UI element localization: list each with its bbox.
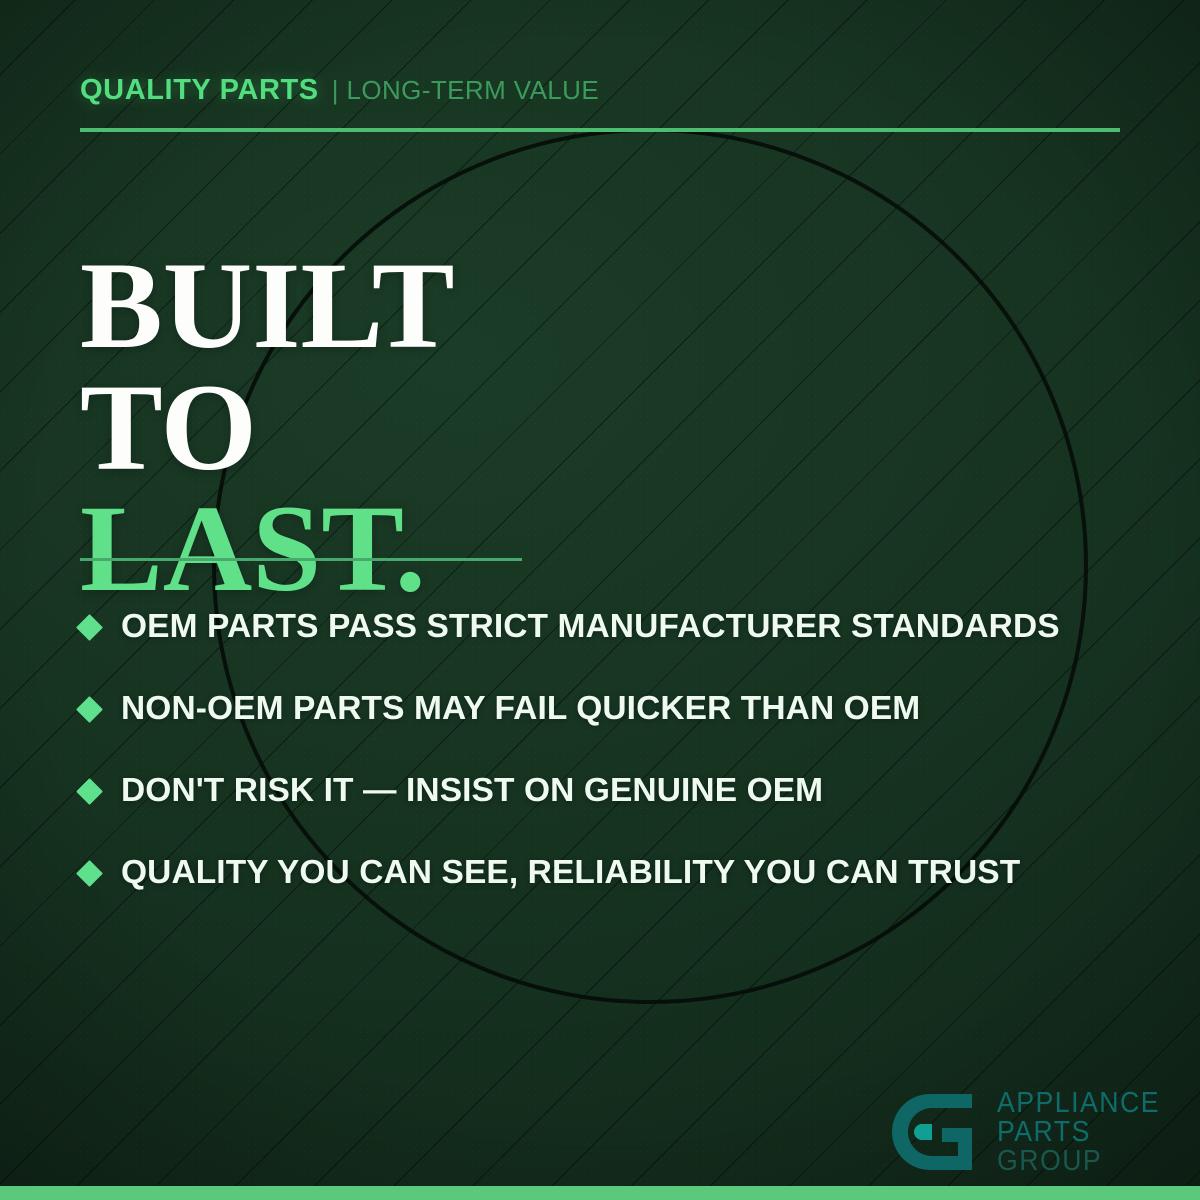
headline-divider-rule	[80, 558, 522, 561]
list-item-label: NON-OEM PARTS MAY FAIL QUICKER THAN OEM	[121, 690, 920, 728]
headline-line-2: TO	[80, 367, 455, 489]
eyebrow-sub-label: | LONG-TERM VALUE	[332, 75, 599, 106]
diamond-bullet-icon	[76, 696, 103, 723]
poster-content: QUALITY PARTS | LONG-TERM VALUE BUILT TO…	[0, 0, 1200, 1200]
headline-line-1: BUILT	[80, 245, 455, 367]
brand-logo-wordmark: APPLIANCE PARTS GROUP	[997, 1089, 1174, 1176]
list-item: DON'T RISK IT — INSIST ON GENUINE OEM	[80, 750, 1140, 832]
brand-line-3: GROUP	[997, 1147, 1160, 1176]
g-monogram-icon	[880, 1084, 984, 1180]
page-title: BUILT TO LAST.	[80, 245, 455, 610]
diamond-bullet-icon	[76, 614, 103, 641]
benefits-list: OEM PARTS PASS STRICT MANUFACTURER STAND…	[80, 586, 1140, 914]
list-item: QUALITY YOU CAN SEE, RELIABILITY YOU CAN…	[80, 832, 1140, 914]
brand-logo: APPLIANCE PARTS GROUP	[880, 1084, 1174, 1180]
poster-canvas: QUALITY PARTS | LONG-TERM VALUE BUILT TO…	[0, 0, 1200, 1200]
diamond-bullet-icon	[76, 778, 103, 805]
header-divider-rule	[80, 128, 1120, 132]
list-item-label: OEM PARTS PASS STRICT MANUFACTURER STAND…	[121, 608, 1060, 646]
list-item: OEM PARTS PASS STRICT MANUFACTURER STAND…	[80, 586, 1140, 668]
eyebrow-header: QUALITY PARTS | LONG-TERM VALUE	[80, 74, 599, 107]
bottom-accent-bar	[0, 1186, 1200, 1200]
brand-line-2: PARTS	[997, 1118, 1160, 1147]
list-item-label: DON'T RISK IT — INSIST ON GENUINE OEM	[121, 772, 823, 810]
brand-line-1: APPLIANCE	[997, 1089, 1160, 1118]
diamond-bullet-icon	[76, 860, 103, 887]
list-item-label: QUALITY YOU CAN SEE, RELIABILITY YOU CAN…	[121, 854, 1020, 892]
list-item: NON-OEM PARTS MAY FAIL QUICKER THAN OEM	[80, 668, 1140, 750]
eyebrow-main-label: QUALITY PARTS	[80, 74, 319, 107]
